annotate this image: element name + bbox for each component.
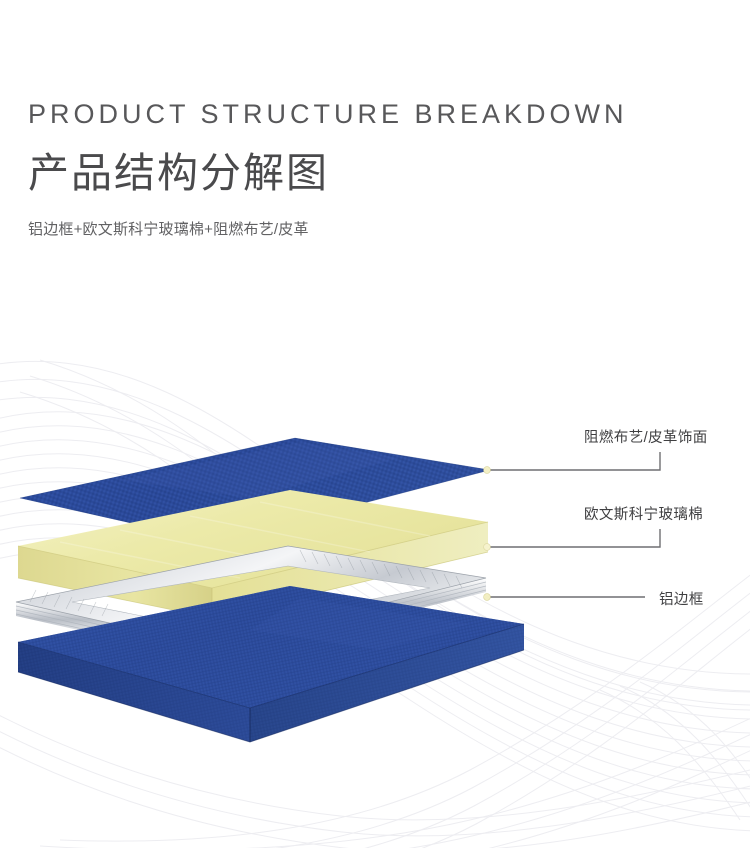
page-title: 产品结构分解图	[28, 150, 628, 197]
callout-label-aluminum-frame: 铝边框	[659, 588, 704, 609]
eyebrow-heading: PRODUCT STRUCTURE BREAKDOWN	[28, 100, 628, 130]
exploded-layer-diagram	[0, 330, 750, 790]
callout-label-glass-wool: 欧文斯科宁玻璃棉	[584, 503, 703, 524]
product-structure-page: PRODUCT STRUCTURE BREAKDOWN 产品结构分解图 铝边框+…	[0, 0, 750, 848]
callout-label-fabric: 阻燃布艺/皮革饰面	[584, 426, 708, 447]
page-header: PRODUCT STRUCTURE BREAKDOWN 产品结构分解图 铝边框+…	[28, 100, 628, 239]
page-subtitle: 铝边框+欧文斯科宁玻璃棉+阻燃布艺/皮革	[28, 218, 628, 239]
